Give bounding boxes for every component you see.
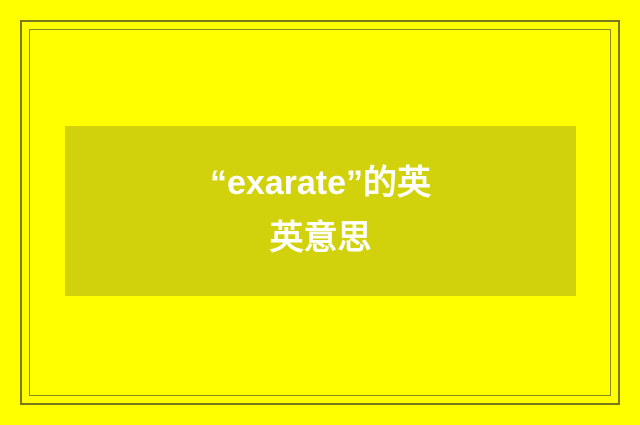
poster-canvas: “exarate”的英英意思: [0, 0, 640, 425]
page-title: “exarate”的英英意思: [201, 156, 441, 266]
title-plate: “exarate”的英英意思: [65, 126, 576, 296]
